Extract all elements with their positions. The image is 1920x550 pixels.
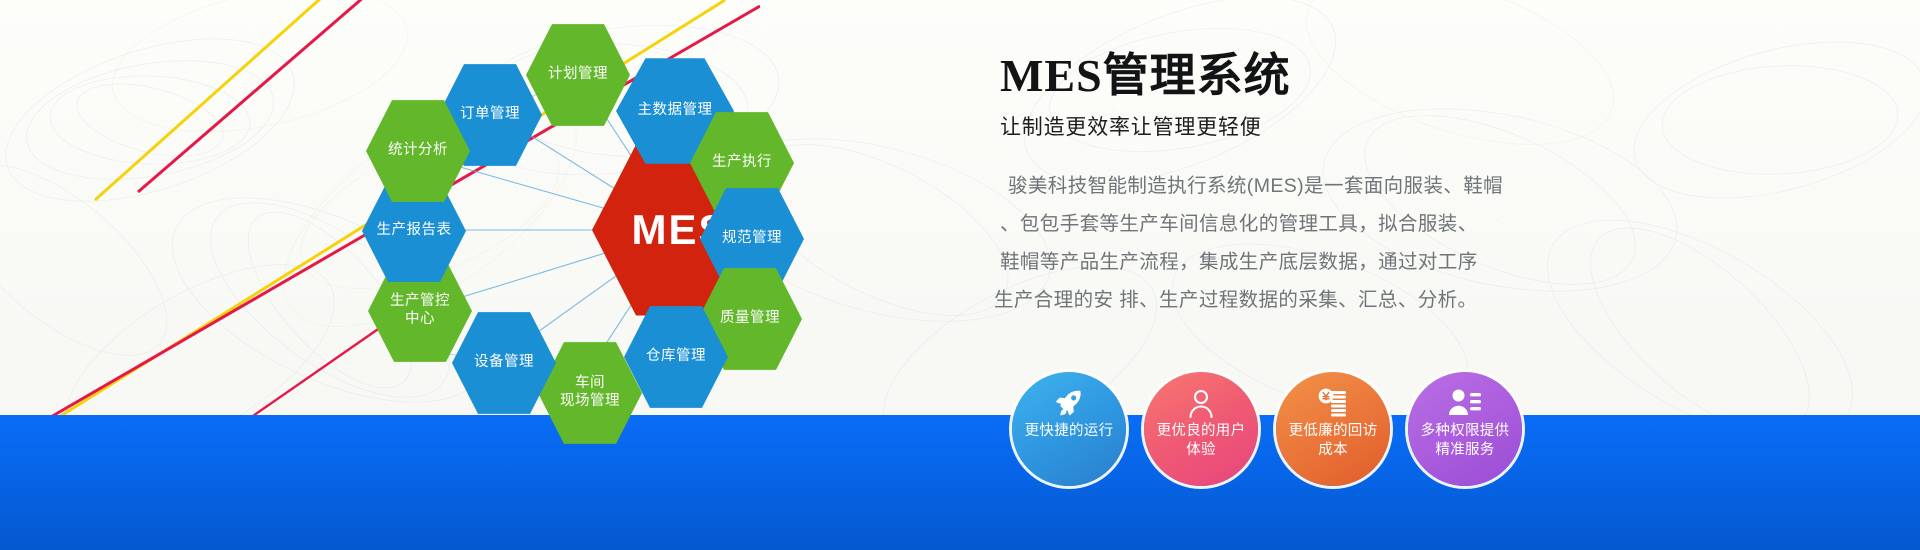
hex-label: 生产管控中心: [390, 293, 450, 328]
rocket-icon: [1053, 386, 1085, 420]
paragraph-line: 鞋帽等产品生产流程，集成生产底层数据，通过对工序: [1000, 243, 1900, 281]
feature-badge-permissions[interactable]: 多种权限提供精准服务: [1408, 372, 1522, 486]
hex-label: 统计分析: [388, 142, 448, 160]
feature-badge-lower-cost[interactable]: 更低廉的回访成本: [1276, 372, 1390, 486]
hex-label: 订单管理: [460, 106, 520, 124]
feature-badge-list: 更快捷的运行 更优良的用户体验: [1012, 372, 1522, 486]
feature-badge-label: 更快捷的运行: [1017, 422, 1121, 441]
page-title: MES管理系统: [1000, 50, 1900, 102]
feature-badge-label: 更优良的用户体验: [1149, 422, 1253, 460]
hex-label: 生产报告表: [377, 222, 452, 240]
user-icon: [1185, 386, 1217, 420]
hex-label: 设备管理: [474, 354, 534, 372]
mes-banner: MES 计划管理 订单管理 主数据管理 生产执行 规范管理 质量管理 仓库管理 …: [0, 0, 1920, 550]
description-paragraph: 骏美科技智能制造执行系统(MES)是一套面向服装、鞋帽 、包包手套等生产车间信息…: [1000, 167, 1900, 320]
feature-badge-label: 多种权限提供精准服务: [1413, 422, 1517, 460]
feature-badge-faster-operation[interactable]: 更快捷的运行: [1012, 372, 1126, 486]
hex-label: 计划管理: [548, 66, 608, 84]
coins-icon: [1317, 386, 1349, 420]
hex-label: 规范管理: [722, 230, 782, 248]
hex-label: 仓库管理: [646, 348, 706, 366]
feature-badge-label: 更低廉的回访成本: [1281, 422, 1385, 460]
hex-label: 质量管理: [720, 310, 780, 328]
paragraph-line: 生产合理的安 排、生产过程数据的采集、汇总、分析。: [994, 281, 1900, 319]
hex-label: 车间现场管理: [560, 375, 620, 410]
mes-hex-diagram: MES 计划管理 订单管理 主数据管理 生产执行 规范管理 质量管理 仓库管理 …: [400, 10, 960, 510]
user-list-icon: [1448, 386, 1482, 420]
hex-label: 生产执行: [712, 154, 772, 172]
bottom-blue-band: [0, 415, 1920, 550]
hex-label: 主数据管理: [638, 102, 713, 120]
banner-text-column: MES管理系统 让制造更效率让管理更轻便 骏美科技智能制造执行系统(MES)是一…: [1000, 50, 1900, 319]
page-subtitle: 让制造更效率让管理更轻便: [1000, 111, 1900, 141]
paragraph-line: 骏美科技智能制造执行系统(MES)是一套面向服装、鞋帽: [1008, 167, 1900, 205]
paragraph-line: 、包包手套等生产车间信息化的管理工具，拟合服装、: [1000, 205, 1900, 243]
feature-badge-better-experience[interactable]: 更优良的用户体验: [1144, 372, 1258, 486]
